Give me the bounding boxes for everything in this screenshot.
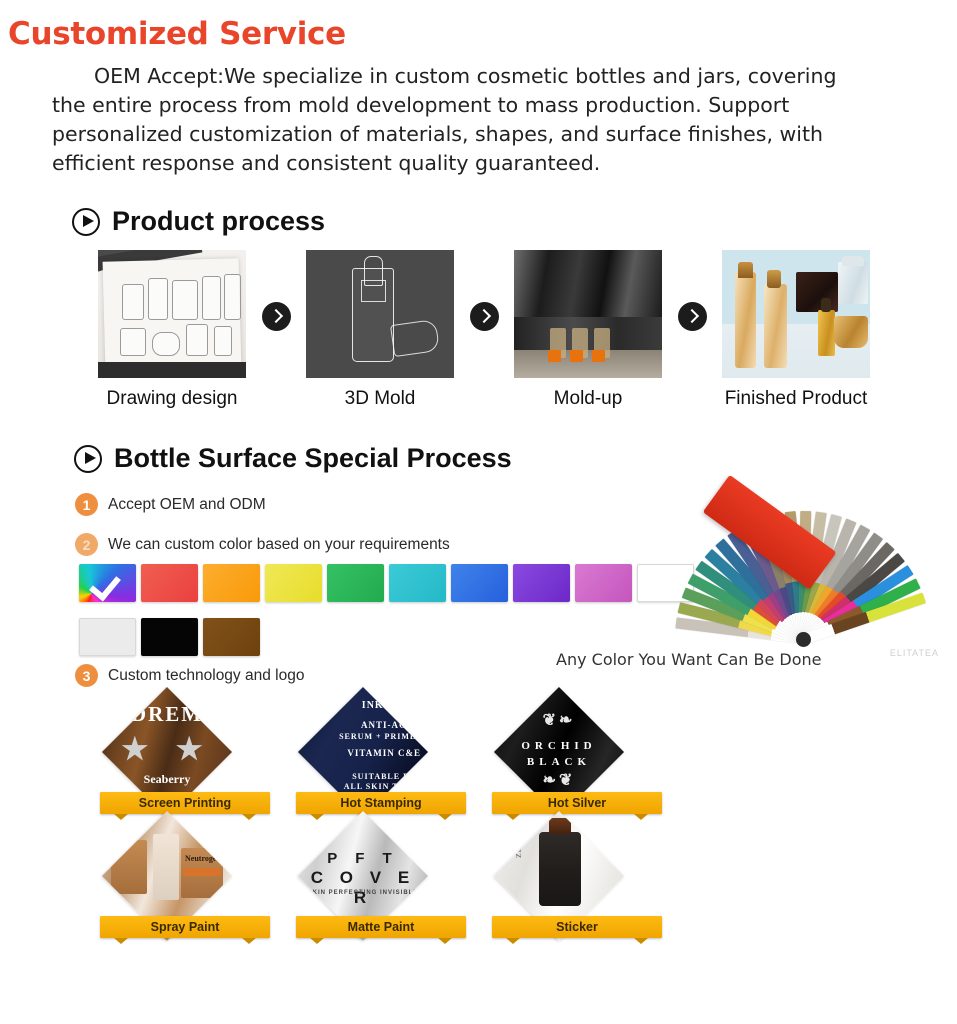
color-swatch-red[interactable] xyxy=(141,564,198,602)
section-product-process-heading: Product process xyxy=(72,206,325,237)
technique-label: Hot Stamping xyxy=(296,792,466,814)
color-swatch-light-gray[interactable] xyxy=(79,618,136,656)
art-text-brand: Neutrogena xyxy=(185,854,225,863)
art-text-l6: ALL SKIN TYPES xyxy=(344,782,423,791)
art-text-top: DREM xyxy=(102,702,232,727)
art-ornament-bottom: ❧❦ xyxy=(494,770,624,790)
process-arrow-1 xyxy=(246,250,306,331)
intro-paragraph: OEM Accept:We specialize in custom cosme… xyxy=(52,62,862,178)
technique-label: Spray Paint xyxy=(100,916,270,938)
color-swatch-rainbow-selected[interactable] xyxy=(79,564,136,602)
step-number-badge: 3 xyxy=(75,664,98,687)
art-text-l2: ANTI-ACNE xyxy=(361,720,421,730)
technique-label: Screen Printing xyxy=(100,792,270,814)
color-swatch-brown[interactable] xyxy=(203,618,260,656)
technique-tile-sticker[interactable]: ZERO Sticker xyxy=(477,830,677,942)
art-text-side: ZERO xyxy=(515,834,523,858)
section-title: Product process xyxy=(112,206,325,237)
section-surface-process-heading: Bottle Surface Special Process xyxy=(74,443,512,474)
technique-tile-matte-paint[interactable]: P F T C O V E R SKIN PERFECTING INVISIBL… xyxy=(281,830,481,942)
amber-bottle-graphic xyxy=(539,832,581,906)
technique-tile-spray-paint[interactable]: Neutrogena Spray Paint xyxy=(85,830,285,942)
pantone-color-fan-deck: ELITATEA xyxy=(683,512,945,660)
art-stars: ★ ★ xyxy=(102,732,232,767)
page-title: Customized Service xyxy=(8,16,346,52)
art-ornament-top: ❦❧ xyxy=(494,710,624,730)
process-arrow-2 xyxy=(454,250,514,331)
process-step-mold-up[interactable]: Mold-up xyxy=(514,250,662,410)
color-swatch-green[interactable] xyxy=(327,564,384,602)
finished-cosmetic-bottles-photo xyxy=(722,250,870,378)
fan-watermark: ELITATEA xyxy=(890,648,939,658)
art-text-l1: P F T xyxy=(298,850,428,867)
check-icon xyxy=(89,568,121,601)
molding-machine-photo xyxy=(514,250,662,378)
technique-label: Sticker xyxy=(492,916,662,938)
fan-caption: Any Color You Want Can Be Done xyxy=(556,650,821,669)
color-swatch-black[interactable] xyxy=(141,618,198,656)
color-swatch-row-1 xyxy=(79,564,694,602)
art-text-l4: VITAMIN C&E xyxy=(347,748,421,758)
technique-tile-screen-printing[interactable]: DREM ★ ★ Seaberry Screen Printing xyxy=(85,706,285,818)
step-number-badge: 1 xyxy=(75,493,98,516)
3d-wireframe-dropper-bottle xyxy=(306,250,454,378)
fan-pivot xyxy=(796,632,811,647)
art-text-b1: Seaberry xyxy=(102,772,232,787)
surface-item-2: 2 We can custom color based on your requ… xyxy=(75,533,450,556)
chevron-right-icon xyxy=(262,302,291,331)
step-number-badge: 2 xyxy=(75,533,98,556)
art-text-l1: ORCHID xyxy=(494,740,624,752)
color-swatch-orange[interactable] xyxy=(203,564,260,602)
play-circle-icon xyxy=(74,445,102,473)
process-step-label: Mold-up xyxy=(514,388,662,410)
play-circle-icon xyxy=(72,208,100,236)
process-step-label: Finished Product xyxy=(722,388,870,410)
color-swatch-magenta[interactable] xyxy=(575,564,632,602)
process-step-3d-mold[interactable]: 3D Mold xyxy=(306,250,454,410)
surface-item-3: 3 Custom technology and logo xyxy=(75,664,304,687)
process-step-finished-product[interactable]: Finished Product xyxy=(722,250,870,410)
chevron-right-icon xyxy=(678,302,707,331)
color-swatch-row-2 xyxy=(79,618,260,656)
process-arrow-3 xyxy=(662,250,722,331)
section-title: Bottle Surface Special Process xyxy=(114,443,512,474)
process-step-label: 3D Mold xyxy=(306,388,454,410)
surface-item-label: Accept OEM and ODM xyxy=(108,496,266,514)
art-text-l2: BLACK xyxy=(494,756,624,768)
color-swatch-purple[interactable] xyxy=(513,564,570,602)
surface-item-label: We can custom color based on your requir… xyxy=(108,536,450,554)
bottle-sketch-photo xyxy=(98,250,246,378)
chevron-right-icon xyxy=(470,302,499,331)
technique-tile-hot-stamping[interactable]: INK RUSH ANTI-ACNE SERUM + PRIMER VITAMI… xyxy=(281,706,481,818)
art-text-l5: SUITABLE FOR xyxy=(352,772,423,781)
color-swatch-yellow[interactable] xyxy=(265,564,322,602)
art-text-side: ONE xyxy=(305,687,335,726)
process-step-label: Drawing design xyxy=(98,388,246,410)
process-step-drawing-design[interactable]: Drawing design xyxy=(98,250,246,410)
product-process-row: Drawing design 3D Mold Mold-up xyxy=(98,250,898,410)
technique-label: Matte Paint xyxy=(296,916,466,938)
color-swatch-blue[interactable] xyxy=(451,564,508,602)
art-text-l2: C O V E R xyxy=(298,868,428,908)
art-text-l1: INK RUSH xyxy=(362,700,419,711)
technique-label: Hot Silver xyxy=(492,792,662,814)
color-swatch-teal[interactable] xyxy=(389,564,446,602)
art-text-l3: SKIN PERFECTING INVISIBLE xyxy=(298,890,428,896)
art-text-l3: SERUM + PRIMER xyxy=(339,732,423,741)
technique-tile-hot-silver[interactable]: ❦❧ ORCHID BLACK ❧❦ Hot Silver xyxy=(477,706,677,818)
surface-item-1: 1 Accept OEM and ODM xyxy=(75,493,266,516)
surface-item-label: Custom technology and logo xyxy=(108,667,304,685)
